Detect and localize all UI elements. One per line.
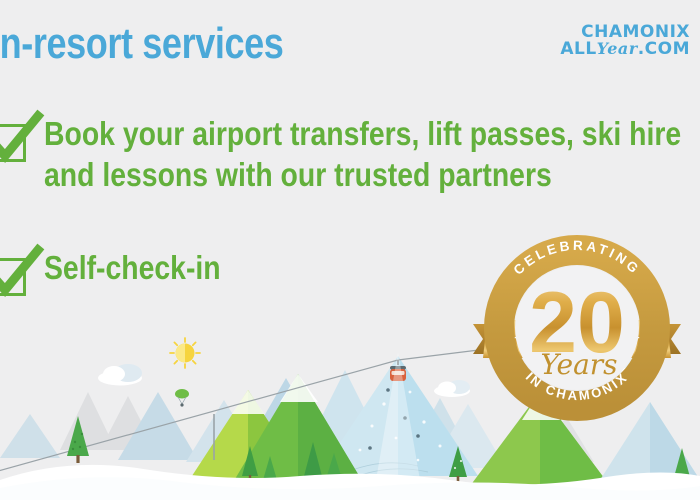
promo-banner: In-resort services CHAMONIX ALLYear.COM … — [0, 0, 700, 500]
list-item-text-line1: Self-check-in — [44, 248, 221, 289]
logo-text-all: ALL — [560, 39, 596, 59]
list-item: Self-check-in — [0, 246, 249, 298]
logo-text-year: Year — [597, 39, 638, 58]
list-item-text: Self-check-in — [44, 246, 221, 289]
checkbox-checked-icon — [0, 118, 32, 164]
brand-logo[interactable]: CHAMONIX ALLYear.COM — [560, 24, 690, 59]
checkbox-checked-icon — [0, 252, 32, 298]
list-item-text-line2: and lessons with our trusted partners — [44, 155, 681, 196]
list-item-text: Book your airport transfers, lift passes… — [44, 112, 681, 195]
logo-text-dotcom: .COM — [638, 39, 690, 59]
list-item-text-line1: Book your airport transfers, lift passes… — [44, 114, 681, 155]
anniversary-badge: CELEBRATING IN CHAMONIX 20 Years — [477, 228, 677, 418]
badge-script-word: Years — [540, 348, 617, 381]
sun-icon — [170, 338, 200, 368]
page-title: In-resort services — [0, 22, 283, 66]
list-item: Book your airport transfers, lift passes… — [0, 112, 700, 195]
logo-line-allyear: ALLYear.COM — [560, 41, 690, 58]
